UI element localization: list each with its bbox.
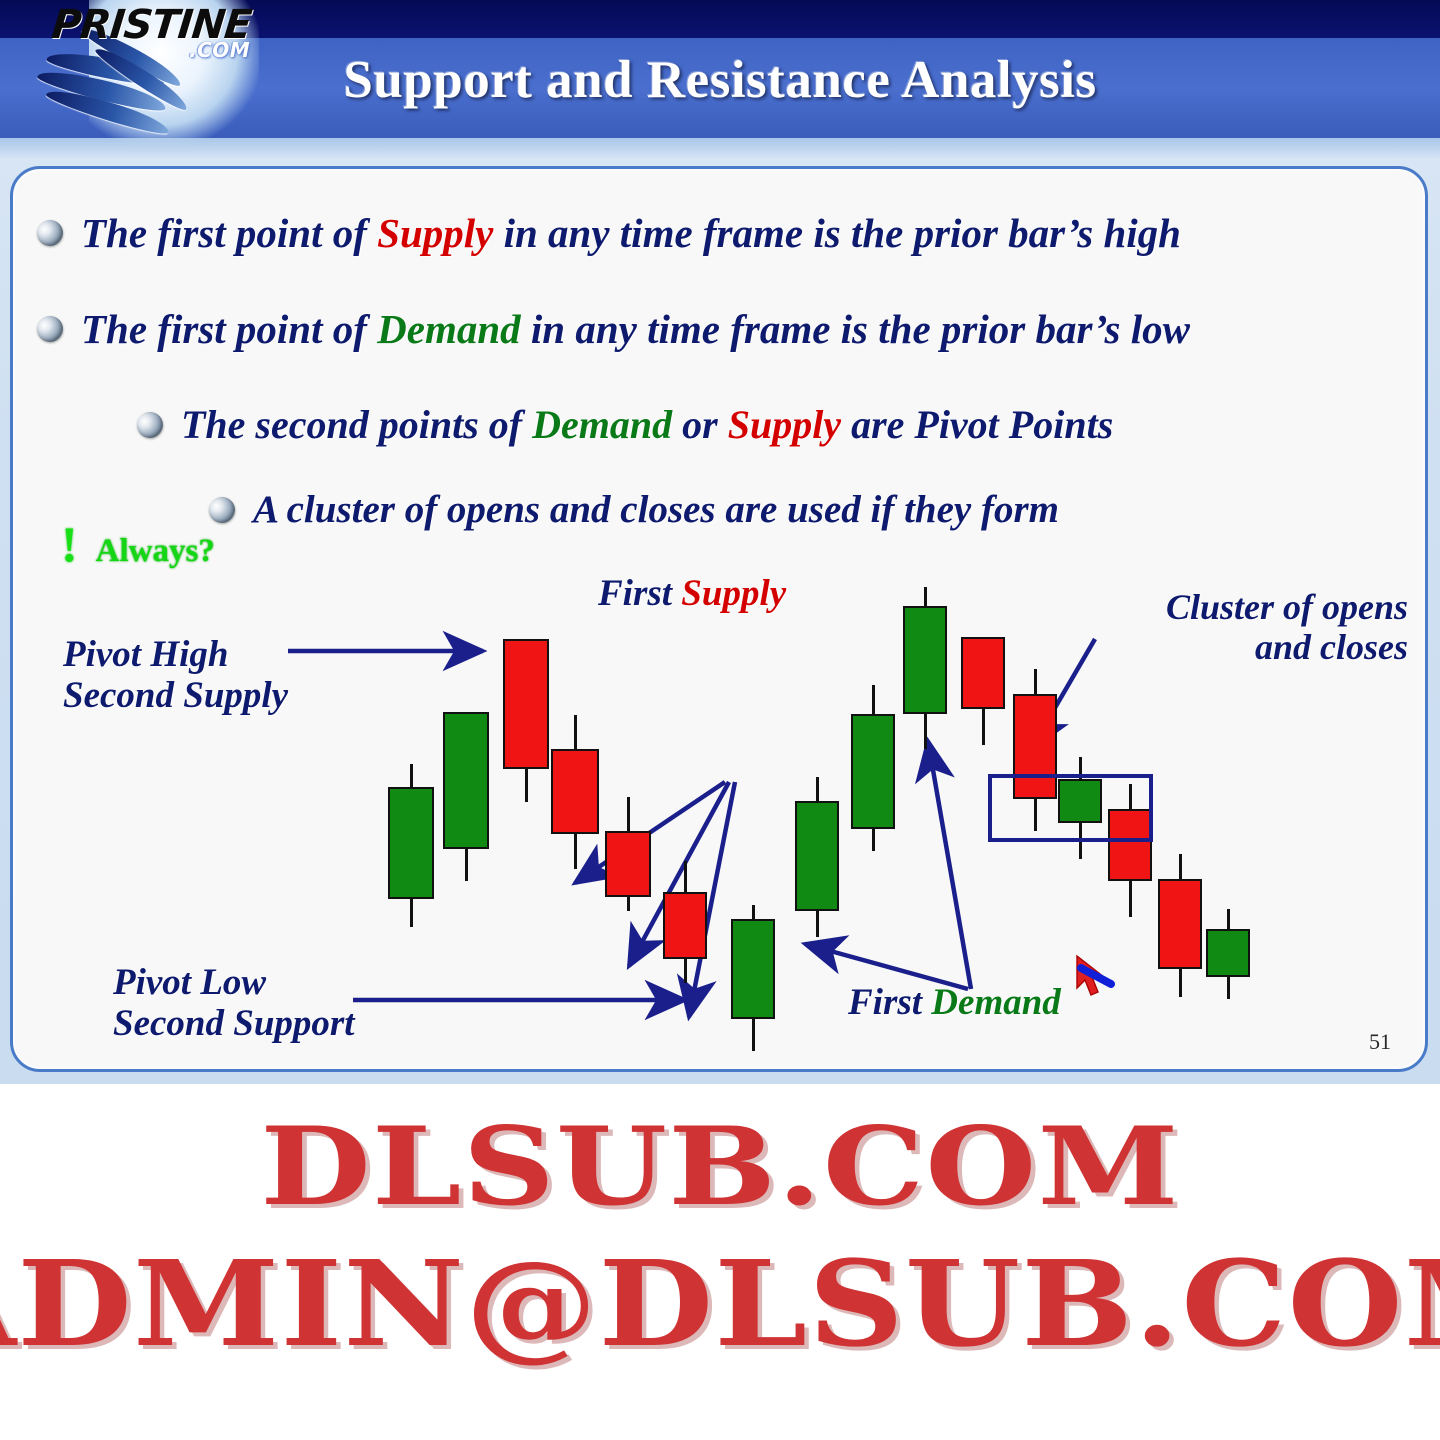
candle-body [605, 831, 651, 897]
candle-body [503, 639, 549, 769]
annotation-first-supply: First Supply [598, 573, 786, 614]
candle-9-up [851, 685, 895, 851]
candle-body [388, 787, 434, 899]
candle-body [961, 637, 1005, 709]
candle-5-down [605, 797, 651, 911]
candle-10-up [903, 587, 947, 749]
pivot-high-line2: Second Supply [63, 675, 288, 716]
first-demand-pre: First [848, 982, 931, 1023]
pivot-low-line1: Pivot Low [113, 962, 355, 1003]
watermark-email: ADMIN@DLSUB.COM [0, 1234, 1440, 1373]
cluster-line1: Cluster of opens [1068, 587, 1408, 627]
first-supply-highlight: Supply [681, 573, 786, 614]
logo-tld: .COM [189, 38, 250, 62]
candle-body [851, 714, 895, 829]
candle-2-up [443, 712, 489, 881]
candlestick-chart: Pivot High Second Supply Pivot Low Secon… [13, 169, 1428, 1072]
cluster-line2: and closes [1068, 627, 1408, 667]
footer-watermark: DLSUB.COM ADMIN@DLSUB.COM [0, 1084, 1440, 1440]
candle-body [1206, 929, 1250, 977]
annotation-pivot-low: Pivot Low Second Support [113, 962, 355, 1045]
annotation-pivot-high: Pivot High Second Supply [63, 634, 288, 717]
candle-body [551, 749, 599, 834]
annotation-first-demand: First Demand [848, 982, 1061, 1023]
candle-8-up [795, 777, 839, 937]
candle-6-down [663, 861, 707, 983]
first-demand-highlight: Demand [931, 982, 1061, 1023]
candle-11-down [961, 637, 1005, 745]
candle-body [1158, 879, 1202, 969]
annotation-cluster: Cluster of opens and closes [1068, 587, 1408, 668]
pivot-high-line1: Pivot High [63, 634, 288, 675]
pristine-logo: PRISTINE .COM [14, 0, 304, 146]
watermark-site: DLSUB.COM [0, 1104, 1440, 1230]
candle-body [903, 606, 947, 714]
candle-7-up [731, 905, 775, 1051]
candle-body [443, 712, 489, 849]
candle-4-down [551, 715, 599, 869]
candle-3-down [503, 639, 549, 802]
first-supply-pre: First [598, 573, 681, 614]
slide-number: 51 [1369, 1029, 1391, 1055]
candle-15-down [1158, 854, 1202, 997]
pivot-low-line2: Second Support [113, 1003, 355, 1044]
slide-body-frame: The first point of Supply in any time fr… [10, 166, 1428, 1072]
presentation-slide: PRISTINE .COM Support and Resistance Ana… [0, 0, 1440, 1084]
candle-body [795, 801, 839, 911]
mouse-cursor-icon [1075, 954, 1115, 998]
candle-1-up [388, 764, 434, 927]
cluster-highlight-box [988, 774, 1153, 842]
candle-body [731, 919, 775, 1019]
candle-body [663, 892, 707, 959]
candle-16-up [1206, 909, 1250, 999]
first-demand-a2 [928, 741, 971, 989]
